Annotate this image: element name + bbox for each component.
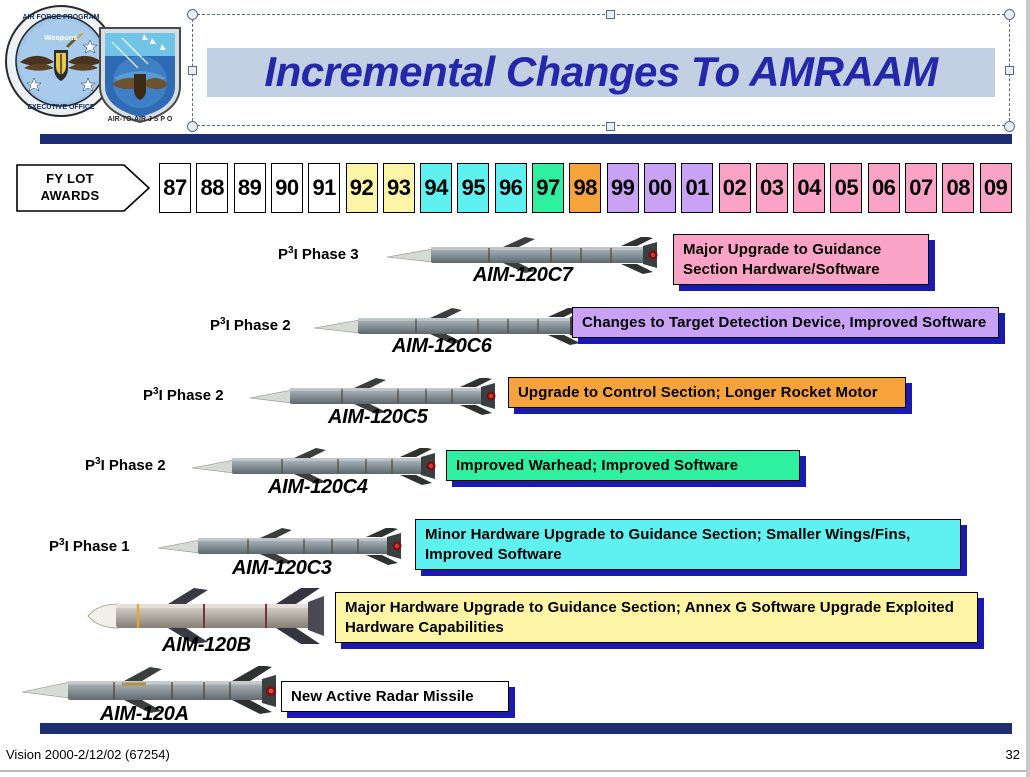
resize-handle-top-center[interactable] — [606, 10, 615, 19]
fiscal-year-box-91: 91 — [308, 163, 340, 213]
slide-canvas: AIR FORCE PROGRAM EXECUTIVE OFFICE Weapo… — [0, 0, 1030, 777]
fiscal-year-box-90: 90 — [271, 163, 303, 213]
callout-c5: Upgrade to Control Section; Longer Rocke… — [508, 377, 906, 408]
fiscal-year-box-95: 95 — [457, 163, 489, 213]
resize-handle-top-right[interactable] — [1004, 9, 1015, 20]
fiscal-year-box-08: 08 — [942, 163, 974, 213]
callout-c6: Changes to Target Detection Device, Impr… — [572, 307, 999, 338]
fy-lot-awards-line1: FY LOT — [20, 170, 120, 187]
fiscal-year-box-03: 03 — [756, 163, 788, 213]
fiscal-year-box-01: 01 — [681, 163, 713, 213]
fiscal-year-box-98: 98 — [569, 163, 601, 213]
phase-label-c6: P3I Phase 2 — [210, 316, 291, 334]
fiscal-year-box-92: 92 — [346, 163, 378, 213]
page-title: Incremental Changes To AMRAAM — [207, 44, 995, 100]
phase-label-c3: P3I Phase 1 — [49, 537, 130, 555]
resize-handle-middle-left[interactable] — [188, 66, 197, 75]
fiscal-year-box-02: 02 — [719, 163, 751, 213]
fy-lot-awards-line2: AWARDS — [20, 187, 120, 204]
fiscal-year-box-87: 87 — [159, 163, 191, 213]
missile-label-c3: AIM-120C3 — [232, 557, 332, 580]
phase-label-c5: P3I Phase 2 — [143, 386, 224, 404]
resize-handle-bottom-right[interactable] — [1004, 121, 1015, 132]
fiscal-year-box-09: 09 — [980, 163, 1012, 213]
window-right-edge — [1026, 0, 1030, 777]
fiscal-year-box-00: 00 — [644, 163, 676, 213]
missile-label-b: AIM-120B — [162, 634, 251, 657]
fiscal-year-box-89: 89 — [234, 163, 266, 213]
missile-label-c5: AIM-120C5 — [328, 406, 428, 429]
resize-handle-middle-right[interactable] — [1005, 66, 1014, 75]
callout-c3: Minor Hardware Upgrade to Guidance Secti… — [415, 519, 961, 570]
resize-handle-top-left[interactable] — [187, 9, 198, 20]
missile-label-c6: AIM-120C6 — [392, 335, 492, 358]
fiscal-year-timeline: 8788899091929394959697989900010203040506… — [159, 163, 1017, 213]
footer-divider-bar — [40, 723, 1012, 734]
fiscal-year-box-93: 93 — [383, 163, 415, 213]
missile-label-c4: AIM-120C4 — [268, 476, 368, 499]
resize-handle-bottom-left[interactable] — [187, 121, 198, 132]
fiscal-year-box-05: 05 — [830, 163, 862, 213]
callout-a: New Active Radar Missile — [281, 681, 509, 712]
svg-text:EXECUTIVE OFFICE: EXECUTIVE OFFICE — [27, 104, 95, 111]
logo-group: AIR FORCE PROGRAM EXECUTIVE OFFICE Weapo… — [0, 0, 190, 128]
footer-rule — [0, 770, 1030, 772]
missile-label-c7: AIM-120C7 — [473, 264, 573, 287]
fiscal-year-box-99: 99 — [607, 163, 639, 213]
fiscal-year-box-96: 96 — [495, 163, 527, 213]
callout-b: Major Hardware Upgrade to Guidance Secti… — [335, 592, 978, 643]
svg-text:AIR FORCE PROGRAM: AIR FORCE PROGRAM — [23, 14, 100, 21]
footer-reference: Vision 2000-2/12/02 (67254) — [6, 747, 170, 762]
fiscal-year-box-88: 88 — [196, 163, 228, 213]
svg-text:AIR-TO-AIR J S P O: AIR-TO-AIR J S P O — [108, 116, 173, 123]
header-divider-bar — [40, 134, 1012, 144]
fiscal-year-box-04: 04 — [793, 163, 825, 213]
air-to-air-jspo-shield-icon: AIR-TO-AIR J S P O — [92, 22, 188, 126]
fy-lot-awards-label: FY LOT AWARDS — [20, 170, 120, 206]
fiscal-year-box-97: 97 — [532, 163, 564, 213]
callout-c4: Improved Warhead; Improved Software — [446, 450, 800, 481]
fiscal-year-box-06: 06 — [868, 163, 900, 213]
callout-c7: Major Upgrade to Guidance Section Hardwa… — [673, 234, 929, 285]
fiscal-year-box-07: 07 — [905, 163, 937, 213]
fiscal-year-box-94: 94 — [420, 163, 452, 213]
resize-handle-bottom-center[interactable] — [606, 122, 615, 131]
phase-label-c7: P3I Phase 3 — [278, 245, 359, 263]
page-number: 32 — [1006, 747, 1020, 762]
phase-label-c4: P3I Phase 2 — [85, 456, 166, 474]
svg-text:Weapons: Weapons — [44, 33, 77, 42]
